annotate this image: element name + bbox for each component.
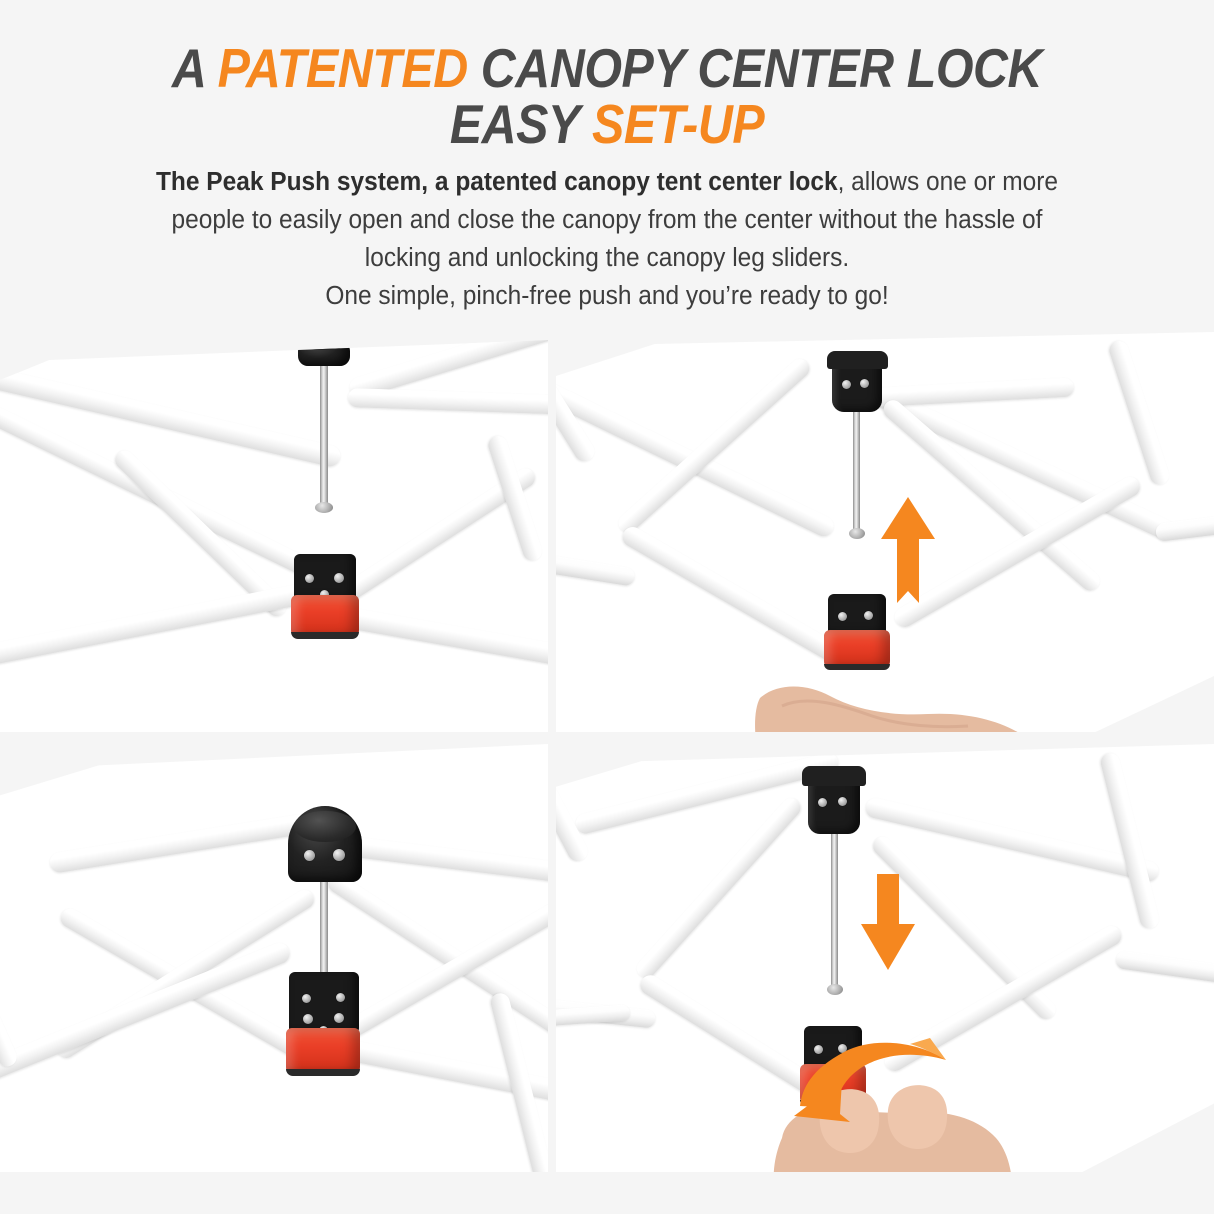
rivet-icon bbox=[304, 850, 315, 861]
body-line-4: One simple, pinch-free push and you’re r… bbox=[325, 282, 888, 310]
marketing-page: A PATENTED CANOPY CENTER LOCK EASY SET-U… bbox=[0, 0, 1214, 1214]
peak-hub bbox=[808, 776, 860, 834]
frame-tube bbox=[633, 795, 804, 982]
headline-text-canopy-center-lock: CANOPY CENTER LOCK bbox=[468, 37, 1042, 99]
arrow-down-icon bbox=[858, 872, 918, 972]
frame-tube bbox=[1107, 339, 1171, 488]
frame-tube bbox=[556, 550, 636, 587]
rivet-icon bbox=[305, 574, 314, 583]
headline-text-easy: EASY bbox=[450, 93, 592, 155]
frame-tube bbox=[0, 582, 315, 671]
arrow-curved-release-icon bbox=[778, 1032, 958, 1122]
headline-line-2: EASY SET-UP bbox=[73, 96, 1141, 152]
headline-highlight-patented: PATENTED bbox=[218, 37, 468, 99]
center-lock-hub bbox=[289, 972, 359, 1034]
body-line-2: people to easily open and close the cano… bbox=[172, 206, 1043, 234]
rivet-icon bbox=[818, 798, 827, 807]
frame-tube bbox=[619, 523, 854, 670]
headline-line-1: A PATENTED CANOPY CENTER LOCK bbox=[73, 40, 1141, 96]
rivet-icon bbox=[864, 611, 873, 620]
panel-closed-frame bbox=[0, 332, 548, 732]
body-line-1-rest: , allows one or more bbox=[838, 168, 1058, 196]
headline-text-a: A bbox=[172, 37, 218, 99]
frame-tube bbox=[348, 388, 548, 416]
rivet-icon bbox=[333, 849, 345, 861]
peak-hub-cap-icon bbox=[298, 336, 350, 366]
rivet-icon bbox=[302, 994, 311, 1003]
frame-tube bbox=[574, 751, 841, 836]
page-headline: A PATENTED CANOPY CENTER LOCK EASY SET-U… bbox=[73, 40, 1141, 152]
frame-tube bbox=[48, 813, 310, 874]
rivet-icon bbox=[842, 380, 851, 389]
peak-hub bbox=[832, 360, 882, 412]
rivet-icon bbox=[303, 1014, 313, 1024]
open-palm-hand bbox=[752, 654, 1052, 732]
headline-highlight-set-up: SET-UP bbox=[592, 93, 764, 155]
frame-tube bbox=[328, 604, 548, 670]
arrow-up-icon bbox=[878, 495, 938, 605]
rivet-icon bbox=[838, 612, 847, 621]
peak-hub-cap-icon bbox=[288, 806, 362, 882]
push-rod bbox=[831, 830, 838, 990]
panel-push-up bbox=[556, 332, 1214, 732]
panel-pull-down-photo bbox=[556, 744, 1214, 1172]
panel-open-frame bbox=[0, 744, 548, 1172]
body-line-1: The Peak Push system, a patented canopy … bbox=[156, 168, 1058, 196]
frame-tube bbox=[1099, 751, 1161, 930]
rivet-icon bbox=[334, 1013, 344, 1023]
panel-open-frame-photo bbox=[0, 744, 548, 1172]
frame-tube bbox=[1155, 511, 1214, 542]
body-copy: The Peak Push system, a patented canopy … bbox=[96, 163, 1117, 315]
body-line-3: locking and unlocking the canopy leg sli… bbox=[365, 244, 849, 272]
center-lock-red-base bbox=[291, 595, 359, 639]
push-rod bbox=[320, 876, 328, 986]
frame-tube bbox=[1115, 950, 1214, 985]
panel-pull-down bbox=[556, 744, 1214, 1172]
push-rod bbox=[853, 406, 860, 534]
rivet-icon bbox=[838, 797, 847, 806]
rivet-icon bbox=[336, 993, 345, 1002]
push-rod bbox=[320, 356, 328, 508]
panel-push-up-photo bbox=[556, 332, 1214, 732]
body-bold-lead: The Peak Push system, a patented canopy … bbox=[156, 168, 838, 196]
frame-tube bbox=[874, 378, 1075, 407]
center-lock-red-base bbox=[286, 1028, 360, 1076]
product-photo-grid bbox=[0, 332, 1214, 1172]
frame-tube bbox=[556, 749, 591, 864]
panel-closed-frame-photo bbox=[0, 332, 548, 732]
rivet-icon bbox=[334, 573, 344, 583]
rivet-icon bbox=[860, 379, 869, 388]
